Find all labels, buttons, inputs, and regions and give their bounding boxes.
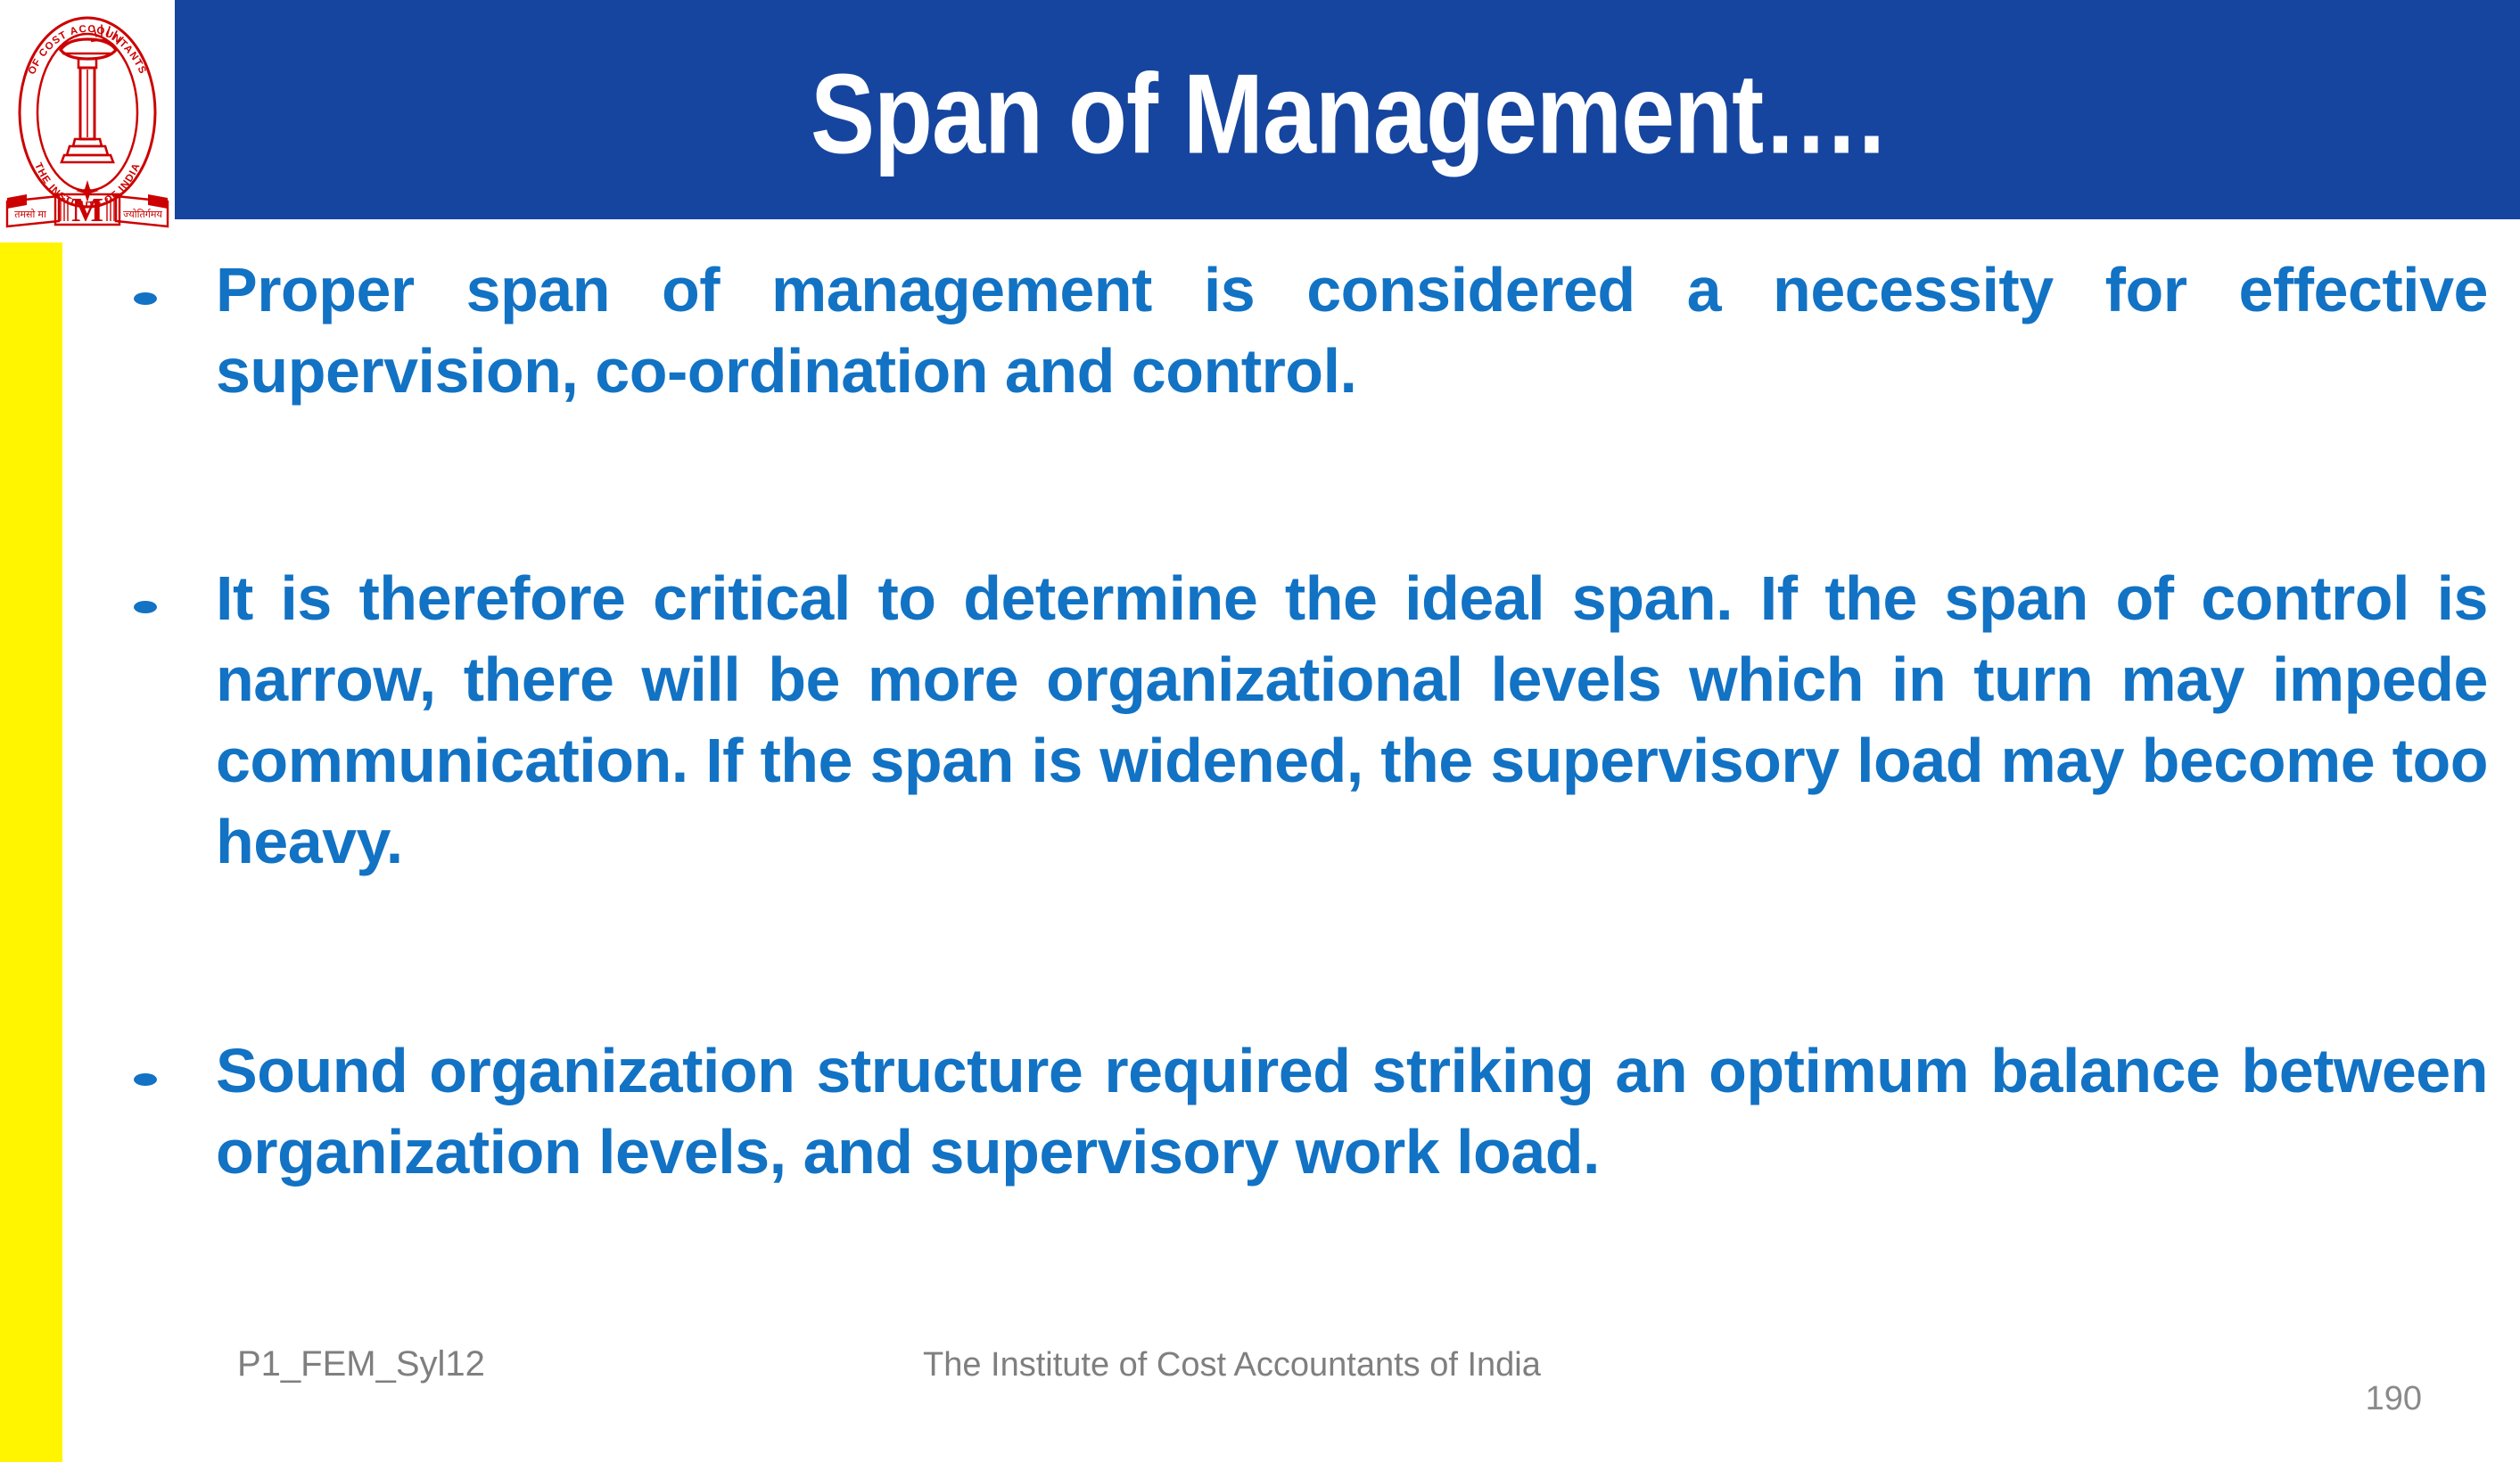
footer-syllabus-code: P1_FEM_Syl12	[237, 1344, 485, 1384]
list-item: It is therefore critical to determine th…	[134, 558, 2488, 883]
left-accent-strip	[0, 242, 62, 1462]
list-item: Proper span of management is considered …	[134, 250, 2488, 412]
bullet-text-2: It is therefore critical to determine th…	[216, 558, 2488, 883]
bullet-list: Proper span of management is considered …	[134, 250, 2488, 1302]
footer-institute-name: The Institute of Cost Accountants of Ind…	[923, 1346, 1541, 1384]
title-bar: Span of Management….	[175, 0, 2520, 219]
bullet-text-1: Proper span of management is considered …	[216, 250, 2488, 412]
bullet-dot-icon	[134, 1073, 157, 1086]
slide-footer: P1_FEM_Syl12 The Institute of Cost Accou…	[0, 1328, 2520, 1462]
page-title: Span of Management….	[811, 57, 1884, 170]
bullet-text-3: Sound organization structure required st…	[216, 1031, 2488, 1193]
svg-text:ज्योतिर्गमय: ज्योतिर्गमय	[123, 209, 162, 220]
bullet-spacer-2	[134, 932, 2488, 1031]
icai-logo: OF COST ACCOUNTANTS THE INSTITUTE OF IND…	[4, 4, 171, 237]
bullet-dot-icon	[134, 292, 157, 305]
footer-page-number: 190	[2366, 1380, 2422, 1418]
svg-text:तमसो मा: तमसो मा	[14, 209, 46, 220]
svg-text:M: M	[71, 192, 103, 229]
bullet-spacer-1	[134, 462, 2488, 558]
slide-root: Span of Management…. OF COST ACCOUNTANTS…	[0, 0, 2520, 1462]
list-item: Sound organization structure required st…	[134, 1031, 2488, 1193]
bullet-dot-icon	[134, 601, 157, 613]
